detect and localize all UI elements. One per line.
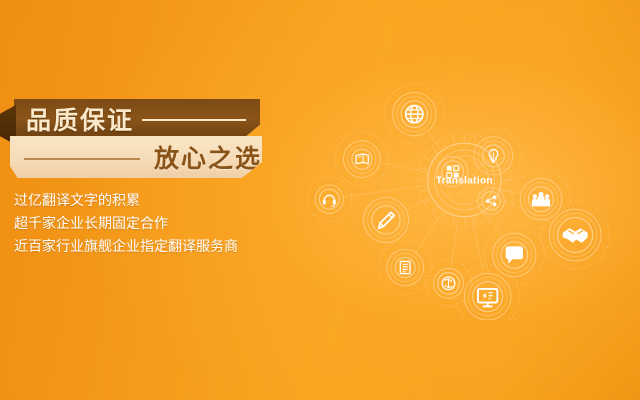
banner-stage: Translation 品质保证 放心之选 过亿翻译文字的积累 超千家企业长期固… [0,0,640,400]
network-node [541,201,609,269]
ribbon-bottom: 放心之选 [10,136,262,178]
network-link [486,212,502,236]
seal-icon [442,277,455,290]
selling-point: 过亿翻译文字的积累 [14,190,334,213]
pencil-icon [379,212,395,228]
network-node [384,84,444,144]
network-link [345,185,426,197]
node-ring [387,249,424,286]
network-svg: Translation [292,70,640,320]
selling-point: 超千家企业长期固定合作 [14,213,334,236]
selling-point: 近百家行业旗舰企业指定翻译服务商 [14,236,334,259]
document-icon [400,261,410,273]
node-ring-inner [372,206,400,234]
ribbon-bottom-rule [24,158,140,160]
handshake-icon [563,228,588,243]
network-node [512,170,570,228]
node-ring [464,273,511,320]
network-node [484,225,544,285]
node-ring [368,202,405,239]
center-label: Translation [436,175,493,186]
node-ring [469,278,507,316]
ribbon-top-title: 品质保证 [26,101,134,137]
network-node [379,241,432,294]
globe-icon [406,106,423,123]
selling-points-list: 过亿翻译文字的积累 超千家企业长期固定合作 近百家行业旗舰企业指定翻译服务商 [14,190,334,259]
bulb-icon [489,150,497,163]
headline-ribbon-group: 品质保证 放心之选 [0,99,272,179]
network-node [364,198,409,243]
network-link [472,218,483,273]
ribbon-top-rule [142,119,246,121]
book-icon [356,154,368,164]
network-link [502,189,520,193]
network-link [381,163,426,172]
translation-network-graphic: Translation [292,70,640,320]
node-ring [364,198,409,243]
monitor-icon [478,289,497,306]
ribbon-bottom-title: 放心之选 [154,139,262,175]
node-ring-inner [395,258,415,278]
network-node [456,265,519,320]
ribbon-top: 品质保证 [14,99,260,139]
chat-icon [506,246,523,263]
network-link [416,212,442,251]
network-node [335,133,388,186]
people-icon [532,192,550,207]
network-link [451,218,459,267]
node-ring [344,141,381,178]
